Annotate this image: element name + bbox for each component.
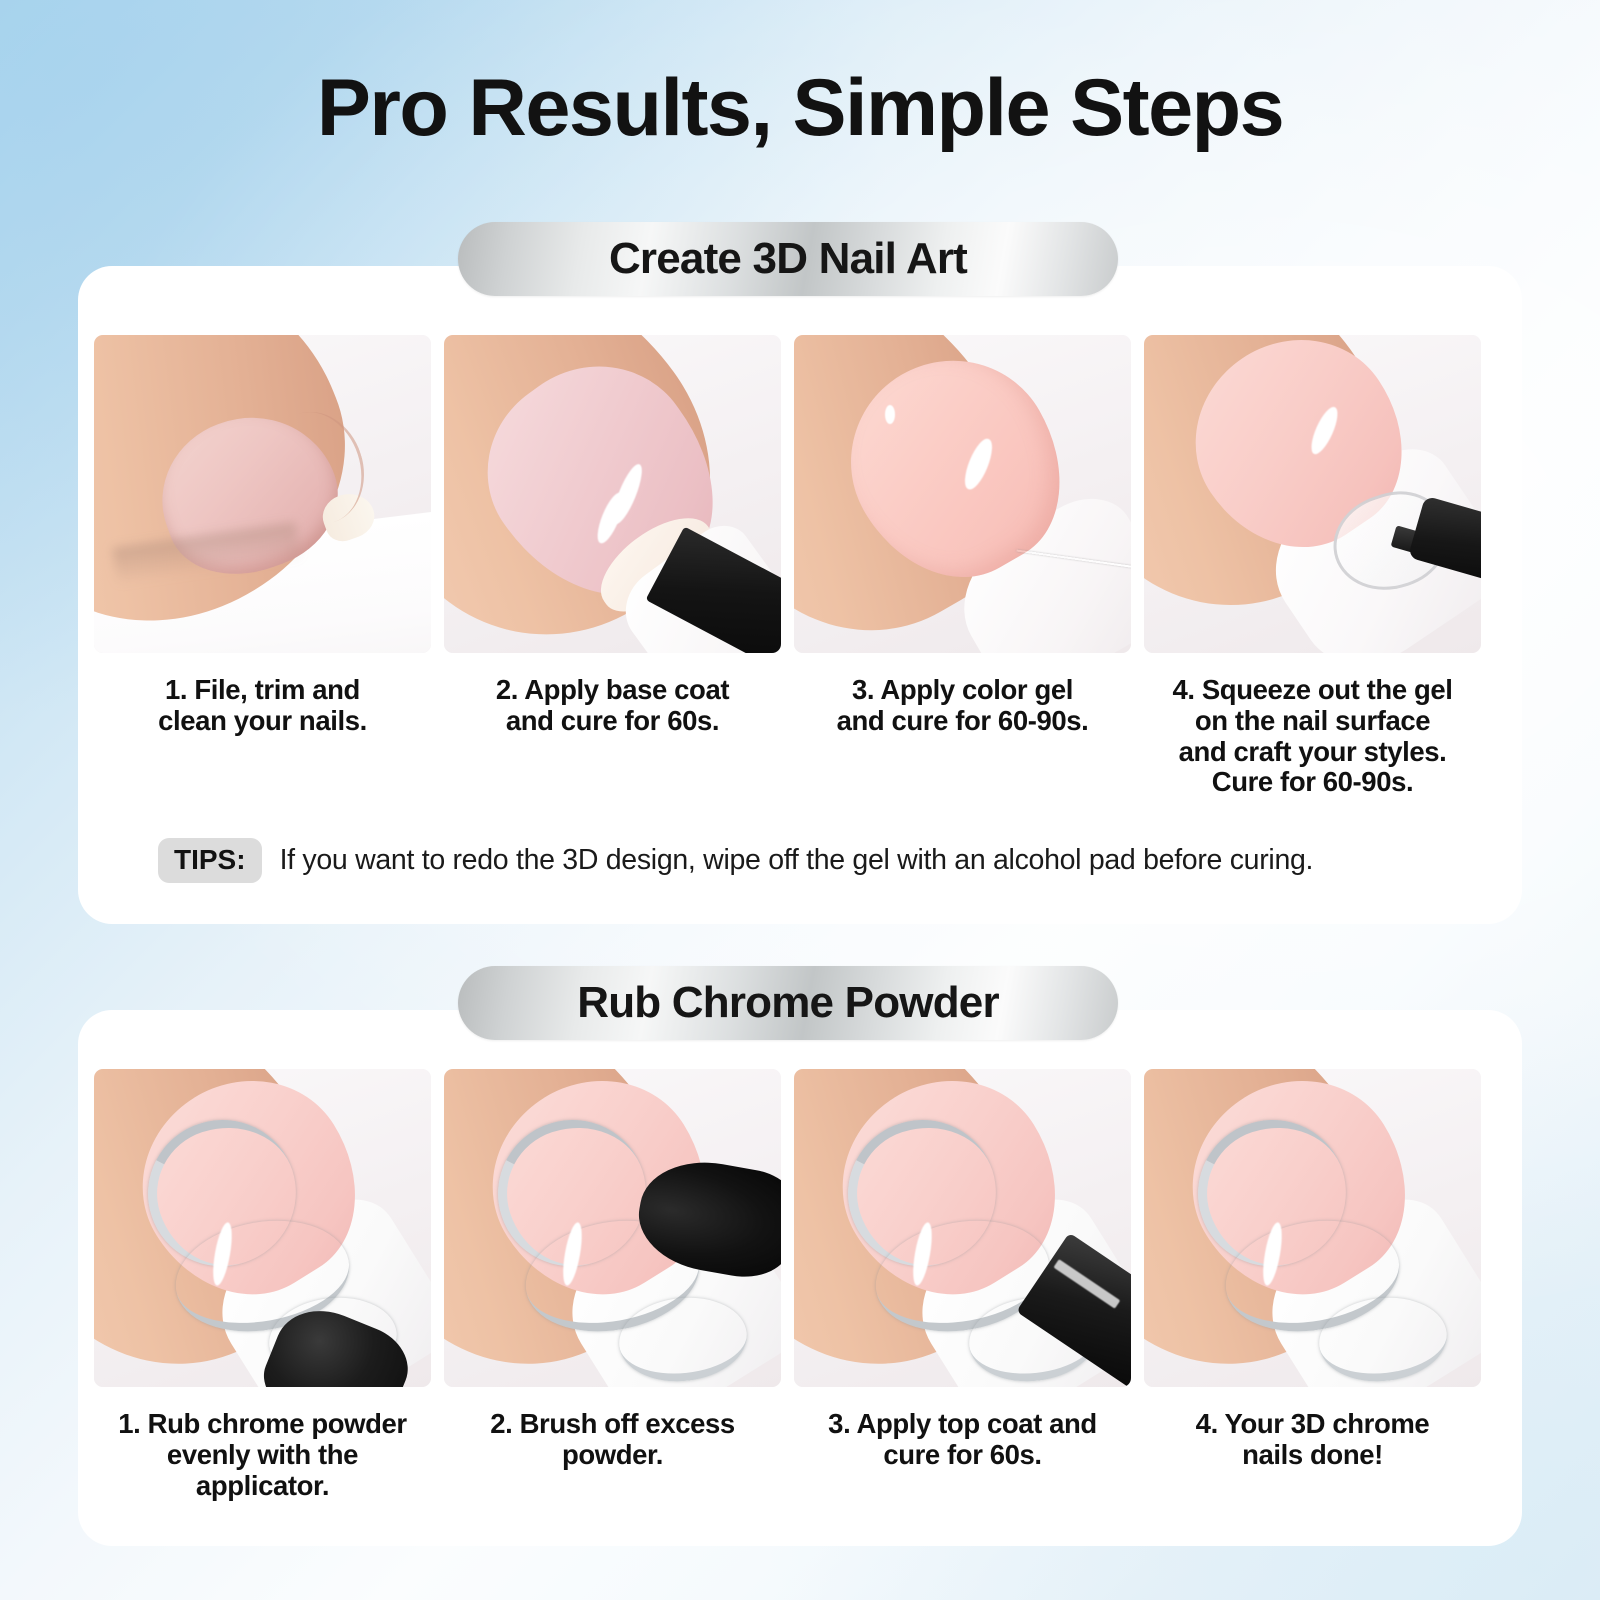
pink-color-gel-photo — [794, 335, 1131, 653]
tips-badge: TIPS: — [158, 838, 262, 883]
step-item: 3. Apply top coat and cure for 60s. — [794, 1069, 1131, 1501]
chrome-powder-applicator-photo — [94, 1069, 431, 1387]
step-caption: 2. Apply base coat and cure for 60s. — [444, 675, 781, 737]
step-caption: 3. Apply top coat and cure for 60s. — [794, 1409, 1131, 1471]
step-caption: 4. Squeeze out the gel on the nail surfa… — [1144, 675, 1481, 798]
brush-off-powder-photo — [444, 1069, 781, 1387]
step-caption: 2. Brush off excess powder. — [444, 1409, 781, 1471]
step-item: 1. Rub chrome powder evenly with the app… — [94, 1069, 431, 1501]
step-item: 1. File, trim and clean your nails. — [94, 335, 431, 798]
step-caption: 3. Apply color gel and cure for 60-90s. — [794, 675, 1131, 737]
step-caption: 1. File, trim and clean your nails. — [94, 675, 431, 737]
section-card: 1. File, trim and clean your nails. — [78, 266, 1522, 924]
steps-grid: 1. Rub chrome powder evenly with the app… — [94, 1069, 1506, 1501]
tips-row: TIPS: If you want to redo the 3D design,… — [158, 838, 1313, 883]
top-coat-brush-photo — [794, 1069, 1131, 1387]
step-item: 2. Brush off excess powder. — [444, 1069, 781, 1501]
infographic-page: Pro Results, Simple Steps 1. File, tri — [0, 0, 1600, 1600]
step-item: 3. Apply color gel and cure for 60-90s. — [794, 335, 1131, 798]
steps-grid: 1. File, trim and clean your nails. — [94, 335, 1506, 798]
section-card: 1. Rub chrome powder evenly with the app… — [78, 1010, 1522, 1546]
tips-text: If you want to redo the 3D design, wipe … — [280, 844, 1314, 877]
section-header-pill-rub-chrome-powder: Rub Chrome Powder — [458, 966, 1118, 1040]
bare-natural-nail-photo — [94, 335, 431, 653]
finished-chrome-nail-photo — [1144, 1069, 1481, 1387]
step-item: 4. Squeeze out the gel on the nail surfa… — [1144, 335, 1481, 798]
page-title: Pro Results, Simple Steps — [0, 62, 1600, 155]
step-item: 2. Apply base coat and cure for 60s. — [444, 335, 781, 798]
section-header-pill-create-3d-nail-art: Create 3D Nail Art — [458, 222, 1118, 296]
section-header-label: Create 3D Nail Art — [609, 234, 967, 284]
section-header-label: Rub Chrome Powder — [577, 978, 999, 1028]
squeeze-gel-bottle-photo — [1144, 335, 1481, 653]
step-caption: 4. Your 3D chrome nails done! — [1144, 1409, 1481, 1471]
step-caption: 1. Rub chrome powder evenly with the app… — [94, 1409, 431, 1501]
step-item: 4. Your 3D chrome nails done! — [1144, 1069, 1481, 1501]
base-coat-brush-photo — [444, 335, 781, 653]
